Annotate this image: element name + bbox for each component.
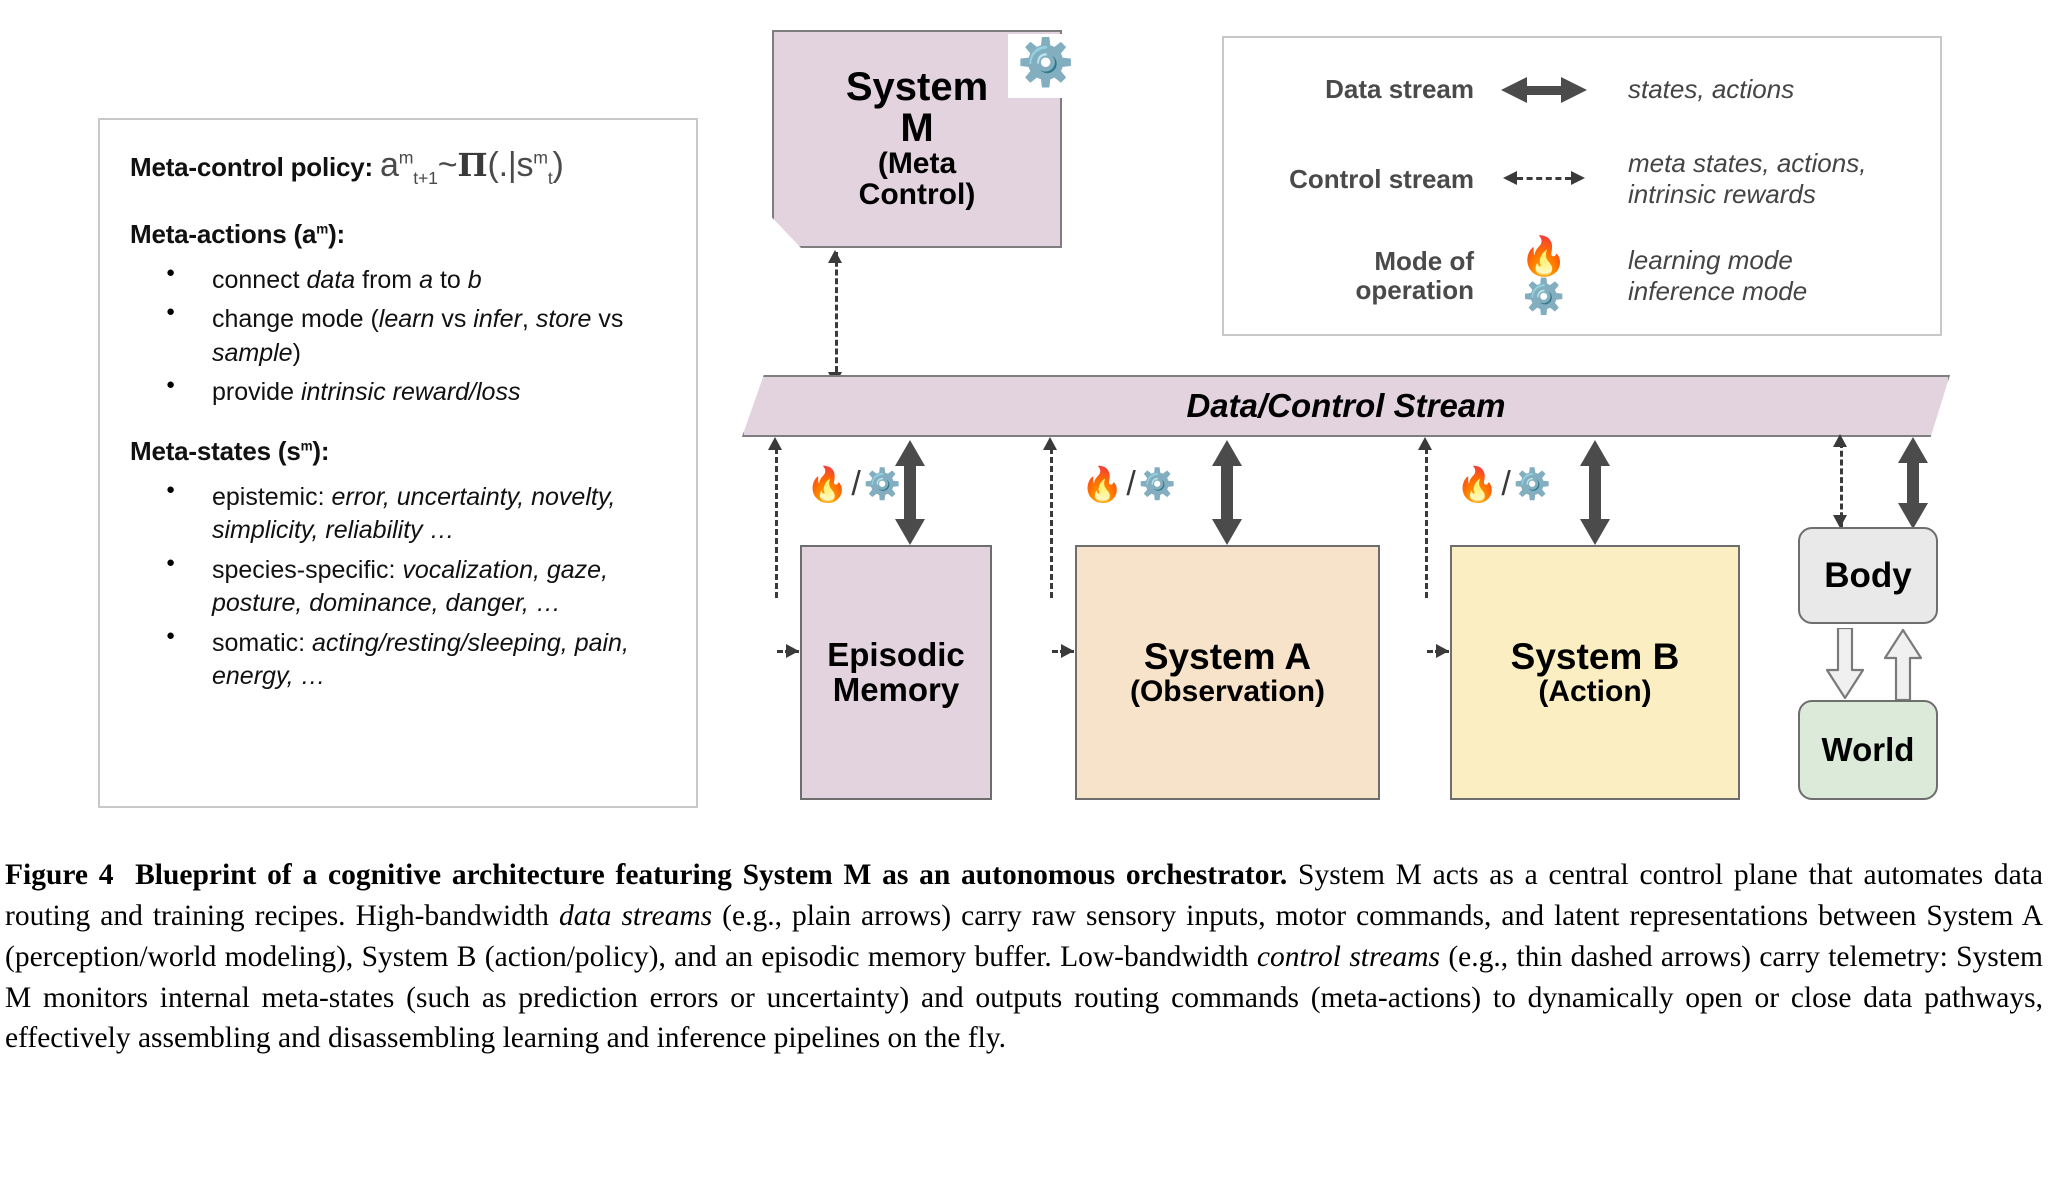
legend-box: Data stream states, actions Control stre… bbox=[1222, 36, 1942, 336]
slash-separator: / bbox=[1126, 465, 1135, 504]
list-item: change mode (learn vs infer, store vs sa… bbox=[166, 303, 670, 370]
legend-mode-texts: learning mode inference mode bbox=[1614, 245, 1940, 307]
list-item: connect data from a to b bbox=[166, 264, 670, 298]
control-arrowhead-sysa-right bbox=[1061, 644, 1074, 658]
item-em: a bbox=[419, 266, 433, 294]
meta-states-heading: Meta-states (sm): bbox=[130, 436, 670, 467]
mode-pair-epmem: 🔥 / ⚙️ bbox=[806, 465, 901, 504]
system-m-line4: Control) bbox=[846, 180, 988, 211]
figure-number: Figure 4 bbox=[5, 859, 114, 891]
world-box[interactable]: World bbox=[1798, 700, 1938, 800]
item-em: intrinsic reward/loss bbox=[301, 378, 521, 406]
formula-a-sub: t+1 bbox=[413, 168, 437, 188]
legend-label-mode: Mode of operation bbox=[1224, 247, 1474, 305]
episodic-memory-line2: Memory bbox=[833, 671, 960, 708]
episodic-memory-label: Episodic Memory bbox=[827, 638, 965, 708]
legend-text-control-stream: meta states, actions, intrinsic rewards bbox=[1614, 148, 1940, 210]
mode-pair-sysa: 🔥 / ⚙️ bbox=[1081, 465, 1176, 504]
control-arrowhead-sysb-up bbox=[1418, 437, 1432, 450]
item-text: from bbox=[355, 266, 419, 294]
item-text: vs bbox=[434, 305, 473, 333]
legend-text-data-stream: states, actions bbox=[1614, 74, 1940, 105]
item-em: data bbox=[307, 266, 356, 294]
control-arrowhead-epmem-up bbox=[768, 437, 782, 450]
formula-open: (.| bbox=[487, 146, 516, 184]
meta-states-heading-sup: m bbox=[301, 438, 313, 453]
mode-label-line2: operation bbox=[1224, 276, 1474, 305]
control-link-m-to-bar bbox=[835, 252, 841, 372]
legend-label-control-stream: Control stream bbox=[1224, 165, 1474, 194]
double-headed-solid-arrow-icon bbox=[1474, 77, 1614, 103]
episodic-memory-line1: Episodic bbox=[827, 636, 965, 673]
system-m-line1: System bbox=[846, 65, 988, 109]
item-text: to bbox=[433, 266, 468, 294]
mode-label-line1: Mode of bbox=[1224, 247, 1474, 276]
system-m-label: System M (Meta Control) bbox=[846, 67, 988, 211]
gears-icon: ⚙️ bbox=[1523, 280, 1565, 314]
system-m-mode-gears-icon: ⚙️ bbox=[1008, 34, 1072, 98]
list-item: epistemic: error, uncertainty, novelty, … bbox=[166, 481, 670, 548]
policy-label: Meta-control policy: bbox=[130, 152, 373, 182]
caption-em-2: control streams bbox=[1257, 941, 1440, 973]
system-a-box[interactable]: System A (Observation) bbox=[1075, 545, 1380, 800]
data-control-stream-bar[interactable]: Data/Control Stream bbox=[742, 375, 1950, 437]
list-item: species-specific: vocalization, gaze, po… bbox=[166, 554, 670, 621]
control-line-epmem bbox=[775, 448, 778, 598]
fire-icon: 🔥 bbox=[1456, 468, 1498, 502]
data-arrow-sysa bbox=[1212, 440, 1242, 545]
meta-control-policy-heading: Meta-control policy: amt+1~Π(.|smt) bbox=[130, 146, 670, 189]
data-arrow-epmem bbox=[895, 440, 925, 545]
formula-a: a bbox=[380, 146, 399, 184]
system-b-line1: System B bbox=[1511, 636, 1680, 677]
fire-icon: 🔥 bbox=[1081, 468, 1123, 502]
meta-control-info-panel: Meta-control policy: amt+1~Π(.|smt) Meta… bbox=[98, 118, 698, 808]
formula-s-sup: m bbox=[533, 148, 548, 168]
gears-icon: ⚙️ bbox=[1017, 39, 1074, 85]
item-text: ) bbox=[293, 339, 301, 367]
episodic-memory-box[interactable]: Episodic Memory bbox=[800, 545, 992, 800]
control-line-sysb bbox=[1425, 448, 1428, 598]
meta-states-heading-text: Meta-states (s bbox=[130, 436, 301, 466]
control-line-sysa bbox=[1050, 448, 1053, 598]
list-item: provide intrinsic reward/loss bbox=[166, 376, 670, 410]
legend-label-data-stream: Data stream bbox=[1224, 75, 1474, 104]
gears-icon: ⚙️ bbox=[1139, 470, 1176, 500]
item-em: infer bbox=[473, 305, 522, 333]
item-text: vs bbox=[591, 305, 623, 333]
control-arrowhead-sysb-right bbox=[1436, 644, 1449, 658]
item-text: , bbox=[522, 305, 536, 333]
legend-row-control-stream: Control stream meta states, actions, int… bbox=[1224, 148, 1940, 210]
system-m-line2: M bbox=[900, 106, 933, 150]
meta-actions-heading: Meta-actions (am): bbox=[130, 219, 670, 250]
state-label: somatic: bbox=[212, 629, 312, 657]
double-headed-dashed-arrow-icon bbox=[1474, 169, 1614, 189]
policy-formula: amt+1~Π(.|smt) bbox=[380, 146, 564, 184]
state-label: species-specific: bbox=[212, 556, 402, 584]
slash-separator: / bbox=[851, 465, 860, 504]
system-a-line1: System A bbox=[1144, 636, 1311, 677]
list-item: somatic: acting/resting/sleeping, pain, … bbox=[166, 627, 670, 694]
item-em: learn bbox=[379, 305, 435, 333]
fire-icon: 🔥 bbox=[806, 468, 848, 502]
control-arrowhead-epmem-right bbox=[786, 644, 799, 658]
meta-actions-heading-end: ): bbox=[328, 219, 345, 249]
figure-canvas: Meta-control policy: amt+1~Π(.|smt) Meta… bbox=[0, 0, 2048, 1183]
system-a-line2: (Observation) bbox=[1130, 676, 1325, 708]
data-arrow-sysb bbox=[1580, 440, 1610, 545]
item-text: provide bbox=[212, 378, 301, 406]
figure-caption: Figure 4 Blueprint of a cognitive archit… bbox=[5, 855, 2043, 1059]
mode-icons: 🔥 ⚙️ bbox=[1474, 238, 1614, 314]
legend-row-data-stream: Data stream states, actions bbox=[1224, 74, 1940, 105]
mode-pair-sysb: 🔥 / ⚙️ bbox=[1456, 465, 1551, 504]
meta-actions-heading-text: Meta-actions (a bbox=[130, 219, 316, 249]
meta-actions-heading-sup: m bbox=[316, 221, 328, 236]
figure-title: Blueprint of a cognitive architecture fe… bbox=[135, 859, 1287, 891]
system-m-line3: (Meta bbox=[846, 149, 988, 180]
formula-close: ) bbox=[553, 146, 564, 184]
system-b-box[interactable]: System B (Action) bbox=[1450, 545, 1740, 800]
item-text: change mode ( bbox=[212, 305, 379, 333]
body-label: Body bbox=[1824, 557, 1912, 594]
formula-s: s bbox=[516, 146, 533, 184]
body-box[interactable]: Body bbox=[1798, 527, 1938, 624]
state-label: epistemic: bbox=[212, 483, 331, 511]
formula-a-sup: m bbox=[399, 148, 414, 168]
item-text: connect bbox=[212, 266, 307, 294]
data-control-stream-label: Data/Control Stream bbox=[1186, 387, 1505, 425]
meta-states-list: epistemic: error, uncertainty, novelty, … bbox=[130, 481, 670, 694]
body-to-world-arrow bbox=[1826, 628, 1864, 706]
legend-text-learning-mode: learning mode bbox=[1628, 245, 1940, 276]
control-arrowhead-sysa-up bbox=[1043, 437, 1057, 450]
world-to-body-arrow bbox=[1884, 628, 1922, 706]
gears-icon: ⚙️ bbox=[1514, 470, 1551, 500]
system-b-line2: (Action) bbox=[1511, 676, 1680, 708]
data-arrow-body bbox=[1898, 437, 1928, 529]
fire-icon: 🔥 bbox=[1520, 238, 1567, 276]
meta-actions-list: connect data from a to b change mode (le… bbox=[130, 264, 670, 410]
formula-tilde: ~ bbox=[438, 146, 458, 184]
formula-pi: Π bbox=[457, 146, 487, 184]
item-em: sample bbox=[212, 339, 293, 367]
control-arrowhead-body-up bbox=[1833, 434, 1847, 447]
system-a-label: System A (Observation) bbox=[1130, 637, 1325, 708]
item-em: b bbox=[468, 266, 482, 294]
slash-separator: / bbox=[1501, 465, 1510, 504]
meta-states-heading-end: ): bbox=[312, 436, 329, 466]
system-b-label: System B (Action) bbox=[1511, 637, 1680, 708]
legend-row-mode-of-operation: Mode of operation 🔥 ⚙️ learning mode inf… bbox=[1224, 238, 1940, 314]
caption-em-1: data streams bbox=[559, 900, 712, 932]
world-label: World bbox=[1822, 733, 1915, 768]
control-arrowhead-up bbox=[828, 250, 842, 263]
item-em: store bbox=[536, 305, 592, 333]
legend-text-inference-mode: inference mode bbox=[1628, 276, 1940, 307]
